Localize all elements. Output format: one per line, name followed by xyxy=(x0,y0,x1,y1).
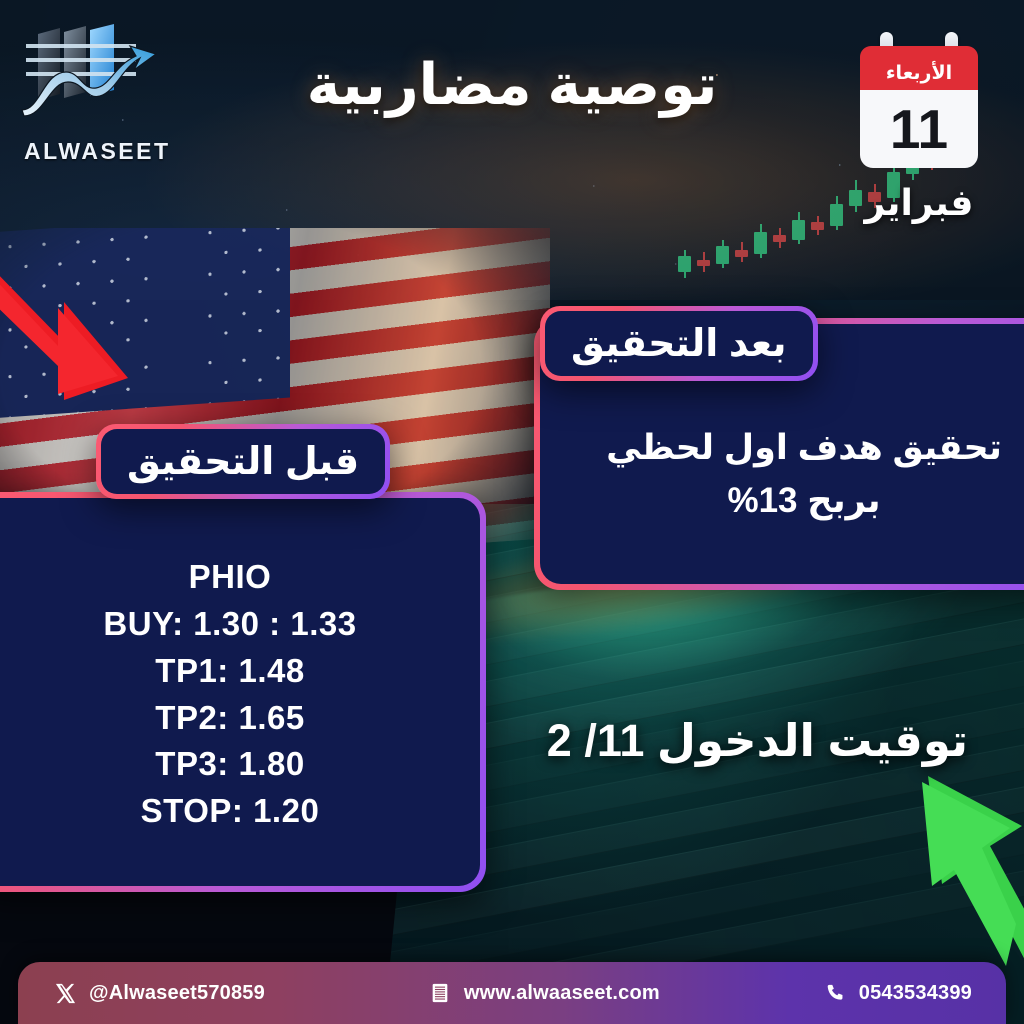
signal-row: TP2: 1.65 xyxy=(103,695,356,742)
candlestick-wick xyxy=(817,216,819,235)
signal-row: BUY: 1.30 : 1.33 xyxy=(103,601,356,648)
logo-text: ALWASEET xyxy=(24,138,171,165)
calendar-day-body: 11 xyxy=(860,90,978,168)
candlestick xyxy=(716,246,729,264)
after-badge-label: بعد التحقيق xyxy=(571,321,787,366)
brand-logo[interactable]: ALWASEET xyxy=(16,20,176,170)
entry-time-text: توقيت الدخول 11/ 2 xyxy=(547,714,968,767)
after-card-badge: بعد التحقيق xyxy=(540,306,818,381)
candlestick-wick xyxy=(722,240,724,268)
website-url: www.alwaaseet.com xyxy=(464,982,660,1005)
calendar-rings xyxy=(860,32,978,46)
x-twitter-icon xyxy=(52,980,78,1006)
after-card-body: تحقيق هدف اول لحظي بربح 13% xyxy=(540,422,1024,527)
candlestick xyxy=(830,204,843,226)
before-card-inner: PHIO BUY: 1.30 : 1.33TP1: 1.48TP2: 1.65T… xyxy=(0,498,480,886)
twitter-handle: @Alwaseet570859 xyxy=(89,982,265,1005)
red-down-arrow-icon xyxy=(0,268,128,400)
calendar-weekday: الأربعاء xyxy=(886,62,952,85)
calendar-month: فبراير xyxy=(860,182,978,224)
before-badge-label: قبل التحقيق xyxy=(127,439,359,484)
candlestick-wick xyxy=(779,228,781,248)
candlestick-wick xyxy=(836,196,838,230)
calendar-day: 11 xyxy=(890,102,948,157)
candlestick-wick xyxy=(703,252,705,272)
candlestick xyxy=(735,250,748,257)
after-badge-inner: بعد التحقيق xyxy=(545,311,813,376)
signal-row: TP3: 1.80 xyxy=(103,741,356,788)
before-badge-inner: قبل التحقيق xyxy=(101,429,385,494)
candlestick-wick xyxy=(684,250,686,278)
green-up-arrow-icon xyxy=(910,766,1024,966)
signal-values: PHIO BUY: 1.30 : 1.33TP1: 1.48TP2: 1.65T… xyxy=(103,554,356,835)
candlestick xyxy=(792,220,805,240)
signal-symbol: PHIO xyxy=(103,554,356,601)
phone-icon xyxy=(822,980,848,1006)
phone-number: 0543534399 xyxy=(859,982,972,1005)
infographic-canvas: ALWASEET توصية مضاربية الأربعاء 11 فبراي… xyxy=(0,0,1024,1024)
candlestick-wick xyxy=(741,242,743,262)
footer-website[interactable]: www.alwaaseet.com xyxy=(427,980,660,1006)
candlestick xyxy=(773,235,786,242)
calendar-weekday-header: الأربعاء xyxy=(860,46,978,90)
document-icon xyxy=(427,980,453,1006)
before-signal-card: PHIO BUY: 1.30 : 1.33TP1: 1.48TP2: 1.65T… xyxy=(0,492,486,892)
candlestick xyxy=(811,222,824,230)
candlestick xyxy=(754,232,767,254)
footer-phone[interactable]: 0543534399 xyxy=(822,980,972,1006)
footer-bar: @Alwaseet570859 www.alwaaseet.com xyxy=(18,962,1006,1024)
candlestick-wick xyxy=(798,212,800,244)
logo-mark-icon xyxy=(16,20,166,132)
candlestick xyxy=(697,260,710,266)
candlestick-wick xyxy=(855,180,857,212)
footer-twitter[interactable]: @Alwaseet570859 xyxy=(52,980,265,1006)
candlestick-wick xyxy=(760,224,762,258)
signal-row: STOP: 1.20 xyxy=(103,788,356,835)
calendar-widget: الأربعاء 11 فبراير xyxy=(860,32,978,224)
signal-row: TP1: 1.48 xyxy=(103,648,356,695)
candlestick xyxy=(678,256,691,272)
before-card-badge: قبل التحقيق xyxy=(96,424,390,499)
